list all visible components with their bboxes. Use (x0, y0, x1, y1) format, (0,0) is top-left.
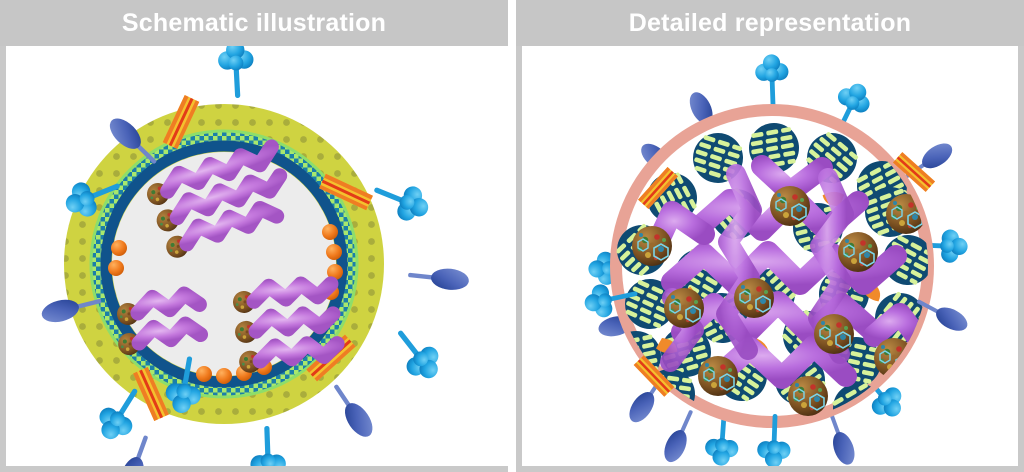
hemagglutinin-spike (249, 425, 286, 466)
polymerase-complex (838, 232, 878, 272)
polymerase-complex (788, 376, 828, 416)
influenza-figure: Schematic illustration (0, 0, 1024, 472)
schematic-stage (6, 46, 508, 466)
panel-title-schematic: Schematic illustration (122, 11, 386, 36)
panel-body-detailed (516, 46, 1024, 472)
hemagglutinin-spike (385, 320, 448, 387)
hemagglutinin-spike (755, 54, 790, 109)
hemagglutinin-spike (368, 173, 434, 227)
rnp-cluster-lower-right (232, 282, 339, 374)
polymerase-complex (698, 356, 738, 396)
neuraminidase-spike (407, 264, 470, 291)
panel-header-detailed: Detailed representation (516, 0, 1024, 46)
polymerase-complex (664, 288, 704, 328)
hemagglutinin-spike (217, 46, 255, 99)
neuraminidase-spike (327, 379, 379, 441)
panel-body-schematic (0, 46, 508, 472)
panel-header-schematic: Schematic illustration (0, 0, 508, 46)
polymerase-complex (734, 278, 774, 318)
polymerase-complex (632, 226, 672, 266)
panel-title-detailed: Detailed representation (629, 11, 911, 36)
neuraminidase-spike (660, 407, 700, 466)
panel-schematic: Schematic illustration (0, 0, 508, 472)
polymerase-complex (770, 186, 810, 226)
detailed-virion-drawing (522, 46, 1024, 466)
schematic-virion-drawing (6, 46, 508, 466)
detailed-stage (522, 46, 1018, 466)
neuraminidase-spike (116, 432, 157, 466)
polymerase-complex (814, 314, 854, 354)
panel-detailed: Detailed representation (516, 0, 1024, 472)
